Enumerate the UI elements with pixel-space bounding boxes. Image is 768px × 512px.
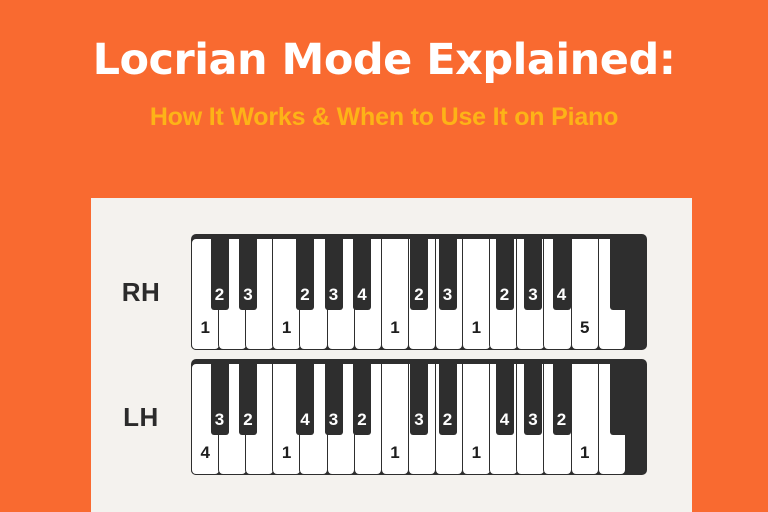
white-key-rh-3[interactable]: 1 bbox=[272, 238, 301, 350]
white-key-lh-13[interactable] bbox=[543, 363, 572, 475]
finger-number-white-rh-0: 1 bbox=[192, 318, 219, 338]
white-key-group-rh: 11115 bbox=[191, 238, 647, 350]
finger-number-white-lh-3: 1 bbox=[273, 443, 300, 463]
white-key-lh-6[interactable] bbox=[354, 363, 383, 475]
finger-number-white-rh-10: 1 bbox=[463, 318, 490, 338]
finger-number-white-lh-10: 1 bbox=[463, 443, 490, 463]
white-key-rh-10[interactable]: 1 bbox=[462, 238, 491, 350]
white-key-lh-3[interactable]: 1 bbox=[272, 363, 301, 475]
white-key-lh-10[interactable]: 1 bbox=[462, 363, 491, 475]
hand-label-lh: LH bbox=[91, 402, 191, 433]
white-key-lh-2[interactable] bbox=[245, 363, 274, 475]
white-key-lh-15[interactable] bbox=[598, 363, 627, 475]
diagram-card: RH 11115 2323423234 LH 41111 3243232432 bbox=[91, 198, 692, 512]
white-key-rh-4[interactable] bbox=[299, 238, 328, 350]
finger-number-white-rh-3: 1 bbox=[273, 318, 300, 338]
white-key-rh-7[interactable]: 1 bbox=[381, 238, 410, 350]
white-key-rh-15[interactable] bbox=[598, 238, 627, 350]
finger-number-white-lh-7: 1 bbox=[382, 443, 409, 463]
finger-number-white-rh-14: 5 bbox=[572, 318, 599, 338]
hand-label-rh: RH bbox=[91, 277, 191, 308]
page-subtitle: How It Works & When to Use It on Piano bbox=[0, 103, 768, 132]
header-banner: Locrian Mode Explained: How It Works & W… bbox=[0, 0, 768, 132]
finger-number-white-lh-14: 1 bbox=[572, 443, 599, 463]
white-key-rh-14[interactable]: 5 bbox=[571, 238, 600, 350]
white-key-rh-2[interactable] bbox=[245, 238, 274, 350]
white-key-rh-9[interactable] bbox=[435, 238, 464, 350]
white-key-lh-9[interactable] bbox=[435, 363, 464, 475]
finger-number-white-lh-0: 4 bbox=[192, 443, 219, 463]
page-title: Locrian Mode Explained: bbox=[0, 38, 768, 83]
keyboard-row-rh: RH 11115 2323423234 bbox=[91, 234, 647, 350]
white-key-lh-0[interactable]: 4 bbox=[191, 363, 220, 475]
white-key-lh-14[interactable]: 1 bbox=[571, 363, 600, 475]
white-key-rh-6[interactable] bbox=[354, 238, 383, 350]
white-key-lh-5[interactable] bbox=[327, 363, 356, 475]
white-key-rh-13[interactable] bbox=[543, 238, 572, 350]
white-key-lh-11[interactable] bbox=[489, 363, 518, 475]
piano-keyboard-rh[interactable]: 11115 2323423234 bbox=[191, 234, 647, 350]
keyboard-row-lh: LH 41111 3243232432 bbox=[91, 359, 647, 475]
white-key-rh-11[interactable] bbox=[489, 238, 518, 350]
white-key-rh-0[interactable]: 1 bbox=[191, 238, 220, 350]
white-key-lh-1[interactable] bbox=[218, 363, 247, 475]
white-key-lh-7[interactable]: 1 bbox=[381, 363, 410, 475]
white-key-rh-8[interactable] bbox=[408, 238, 437, 350]
white-key-group-lh: 41111 bbox=[191, 363, 647, 475]
finger-number-white-rh-7: 1 bbox=[382, 318, 409, 338]
piano-keyboard-lh[interactable]: 41111 3243232432 bbox=[191, 359, 647, 475]
white-key-rh-12[interactable] bbox=[516, 238, 545, 350]
white-key-lh-8[interactable] bbox=[408, 363, 437, 475]
white-key-rh-1[interactable] bbox=[218, 238, 247, 350]
white-key-rh-5[interactable] bbox=[327, 238, 356, 350]
white-key-lh-4[interactable] bbox=[299, 363, 328, 475]
white-key-lh-12[interactable] bbox=[516, 363, 545, 475]
